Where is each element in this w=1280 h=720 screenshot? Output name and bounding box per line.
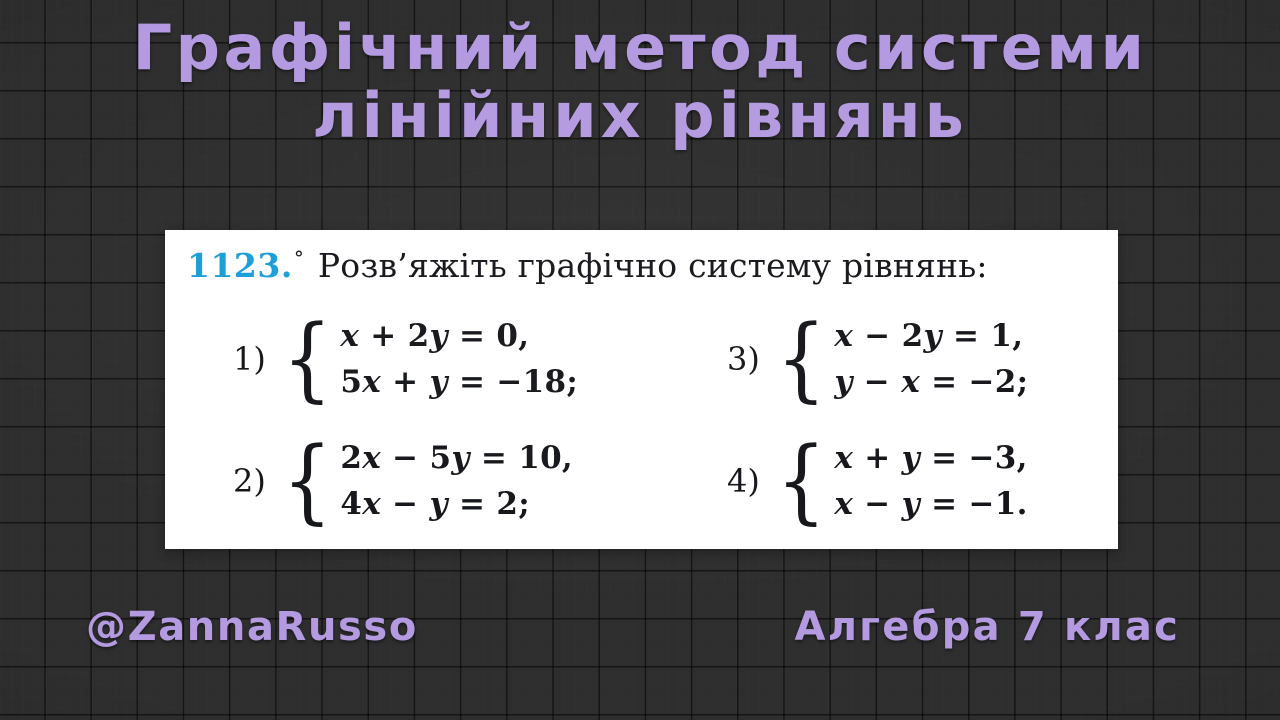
problem-heading: 1123.°Розв’яжіть графічно систему рівнян… [187, 246, 988, 286]
system-index: 2) [233, 465, 266, 497]
author-handle: @ZannaRusso [86, 604, 418, 650]
system-index: 3) [727, 343, 760, 375]
equation-list: x + 2y = 0,5x + y = −18; [340, 320, 578, 398]
equation-system: 3){x − 2y = 1,y − x = −2; [685, 298, 1118, 420]
curly-brace-icon: { [282, 445, 332, 517]
equation-system: 1){x + 2y = 0,5x + y = −18; [165, 298, 685, 420]
equation: x − 2y = 1, [834, 320, 1028, 352]
problem-degree-mark: ° [294, 246, 304, 270]
page-title-line-2: лінійних рівнянь [0, 82, 1280, 150]
curly-brace-icon: { [282, 323, 332, 395]
equation: x + y = −3, [834, 442, 1027, 474]
slide-canvas: Графічний метод системи лінійних рівнянь… [0, 0, 1280, 720]
system-body: {x − 2y = 1,y − x = −2; [772, 320, 1029, 398]
equation: 4x − y = 2; [340, 488, 573, 520]
page-title: Графічний метод системи лінійних рівнянь [0, 14, 1280, 150]
problem-statement: Розв’яжіть графічно систему рівнянь: [318, 246, 988, 285]
equation-system: 2){2x − 5y = 10,4x − y = 2; [165, 420, 685, 542]
equation: 2x − 5y = 10, [340, 442, 573, 474]
problem-number: 1123. [187, 246, 293, 285]
equation: y − x = −2; [834, 366, 1028, 398]
equation: x + 2y = 0, [340, 320, 578, 352]
system-index: 4) [727, 465, 760, 497]
system-body: {x + y = −3,x − y = −1. [772, 442, 1028, 520]
equation-list: x + y = −3,x − y = −1. [834, 442, 1027, 520]
equation-list: x − 2y = 1,y − x = −2; [834, 320, 1028, 398]
subject-label: Алгебра 7 клас [795, 604, 1180, 650]
problem-card: 1123.°Розв’яжіть графічно систему рівнян… [165, 230, 1118, 549]
equation-list: 2x − 5y = 10,4x − y = 2; [340, 442, 573, 520]
system-index: 1) [233, 343, 266, 375]
equation: 5x + y = −18; [340, 366, 578, 398]
equation-system: 4){x + y = −3,x − y = −1. [685, 420, 1118, 542]
page-title-line-1: Графічний метод системи [0, 14, 1280, 82]
systems-grid: 1){x + 2y = 0,5x + y = −18;3){x − 2y = 1… [165, 298, 1118, 542]
system-body: {x + 2y = 0,5x + y = −18; [278, 320, 578, 398]
system-body: {2x − 5y = 10,4x − y = 2; [278, 442, 573, 520]
curly-brace-icon: { [776, 445, 826, 517]
curly-brace-icon: { [776, 323, 826, 395]
equation: x − y = −1. [834, 488, 1027, 520]
